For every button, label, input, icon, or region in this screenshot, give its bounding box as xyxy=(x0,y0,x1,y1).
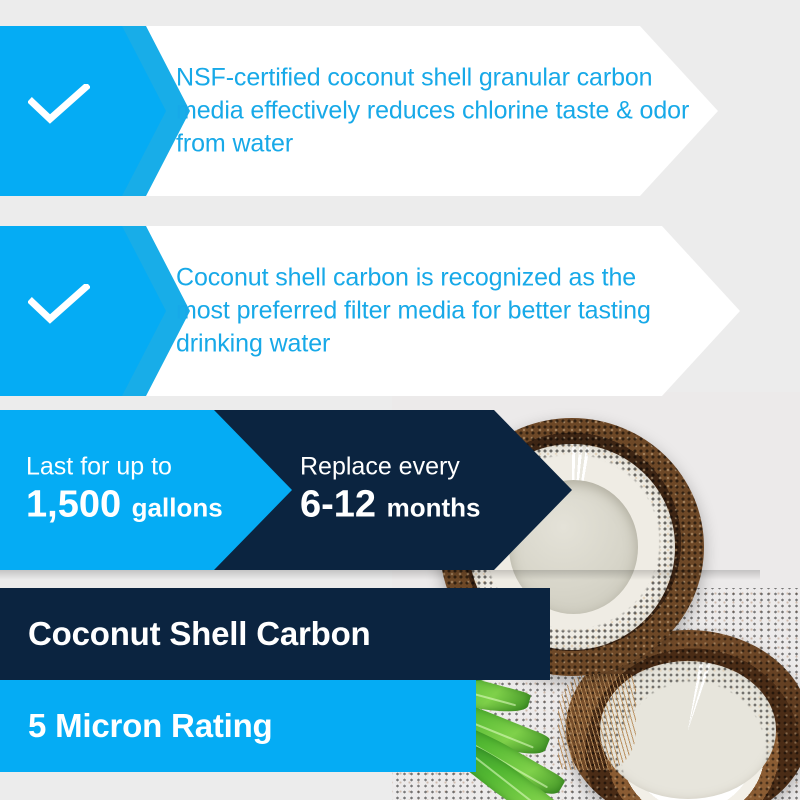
stat-value-row: 6-12 months xyxy=(300,483,481,530)
feature-text: NSF-certified coconut shell granular car… xyxy=(176,62,696,161)
stat-value-row: 1,500 gallons xyxy=(26,483,223,530)
feature-banner-2: Coconut shell carbon is recognized as th… xyxy=(0,226,800,396)
stat-label: Last for up to xyxy=(26,451,223,483)
stat-label: Replace every xyxy=(300,451,481,483)
spec-bar-media: Coconut Shell Carbon xyxy=(0,588,550,680)
stat-value: 6-12 xyxy=(300,484,376,526)
spec-label: 5 Micron Rating xyxy=(0,707,273,745)
stat-value: 1,500 xyxy=(26,484,121,526)
stat-unit: months xyxy=(387,493,481,523)
coconut-fiber xyxy=(558,674,636,770)
check-icon xyxy=(28,284,90,324)
feature-text: Coconut shell carbon is recognized as th… xyxy=(176,262,696,361)
stat-replacement-interval: Replace every 6-12 months xyxy=(300,451,481,530)
check-icon xyxy=(28,84,90,124)
stat-unit: gallons xyxy=(132,493,223,523)
lifespan-stat-band: Last for up to 1,500 gallons Replace eve… xyxy=(0,410,800,570)
stat-capacity: Last for up to 1,500 gallons xyxy=(26,451,223,530)
spec-label: Coconut Shell Carbon xyxy=(0,615,371,653)
infographic-canvas: NSF-certified coconut shell granular car… xyxy=(0,0,800,800)
feature-banner-1: NSF-certified coconut shell granular car… xyxy=(0,26,800,196)
spec-bar-micron: 5 Micron Rating xyxy=(0,680,476,772)
band-divider-shadow xyxy=(0,570,760,580)
